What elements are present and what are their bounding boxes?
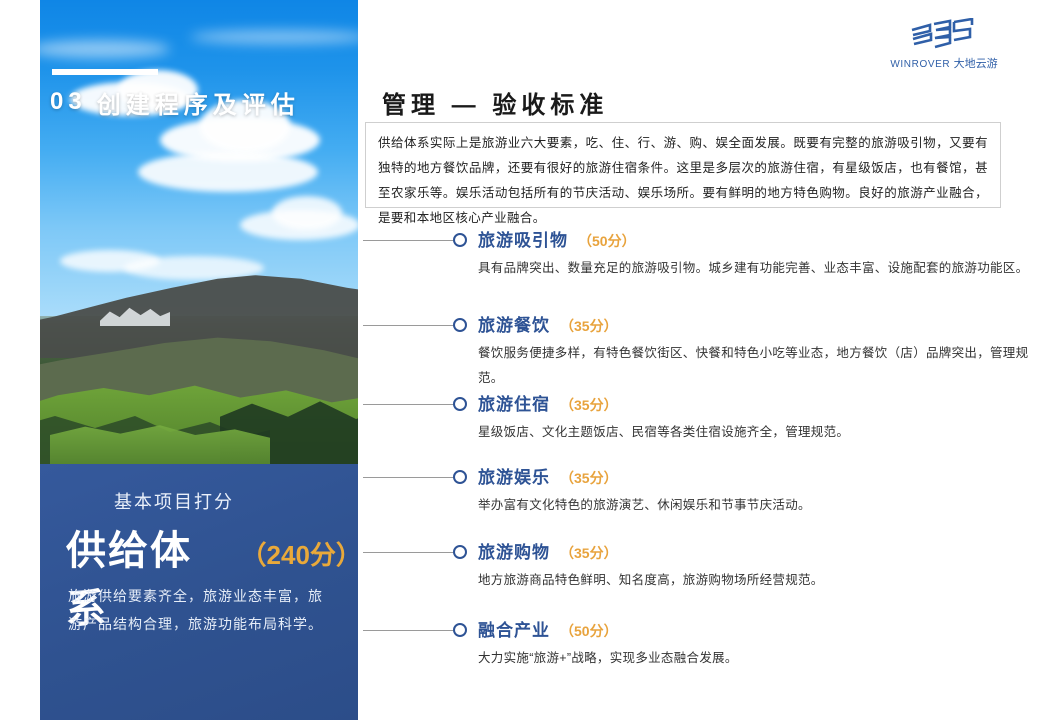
list-item-score: （35分） [560, 468, 618, 488]
list-item-header: 旅游餐饮 （35分） [478, 311, 618, 336]
list-item-title: 旅游餐饮 [478, 311, 550, 336]
list-item-body: 地方旅游商品特色鲜明、知名度高，旅游购物场所经营规范。 [478, 568, 1038, 593]
list-item-title: 旅游住宿 [478, 390, 550, 415]
list-item-body: 餐饮服务便捷多样，有特色餐饮街区、快餐和特色小吃等业态，地方餐饮（店）品牌突出，… [478, 341, 1038, 391]
connector-line [363, 477, 455, 478]
bullet-circle-icon [453, 318, 467, 332]
list-item-header: 旅游娱乐 （35分） [478, 463, 618, 488]
page-title-on-photo: 03 创建程序及评估 [50, 82, 300, 122]
list-item-header: 旅游购物 （35分） [478, 538, 618, 563]
list-item-title: 旅游娱乐 [478, 463, 550, 488]
bullet-circle-icon [453, 470, 467, 484]
bullet-circle-icon [453, 397, 467, 411]
list-item-body: 具有品牌突出、数量充足的旅游吸引物。城乡建有功能完善、业态丰富、设施配套的旅游功… [478, 256, 1038, 281]
section-number: 03 [50, 88, 87, 116]
connector-line [363, 630, 455, 631]
list-item-score: （50分） [578, 231, 636, 251]
list-item-header: 旅游住宿 （35分） [478, 390, 618, 415]
bullet-circle-icon [453, 233, 467, 247]
connector-line [363, 552, 455, 553]
list-item-score: （50分） [560, 621, 618, 641]
list-item-body: 举办富有文化特色的旅游演艺、休闲娱乐和节事节庆活动。 [478, 493, 1038, 518]
slide-root: 03 创建程序及评估 管理 — 验收标准 WINROVER 大地云游 供给体系实… [0, 0, 1040, 720]
connector-line [363, 404, 455, 405]
list-item-score: （35分） [560, 395, 618, 415]
list-item-score: （35分） [560, 316, 618, 336]
list-item-title: 旅游购物 [478, 538, 550, 563]
list-item-body: 星级饭店、文化主题饭店、民宿等各类住宿设施齐全，管理规范。 [478, 420, 1038, 445]
list-item-body: 大力实施“旅游+”战略，实现多业态融合发展。 [478, 646, 1038, 671]
list-item-title: 融合产业 [478, 616, 550, 641]
list-item-title: 旅游吸引物 [478, 226, 568, 251]
section-title: 创建程序及评估 [97, 85, 300, 120]
bullet-circle-icon [453, 623, 467, 637]
connector-line [363, 325, 455, 326]
list-item-header: 旅游吸引物 （50分） [478, 226, 636, 251]
connector-line [363, 240, 455, 241]
bullet-circle-icon [453, 545, 467, 559]
list-item-header: 融合产业 （50分） [478, 616, 618, 641]
list-item-score: （35分） [560, 543, 618, 563]
page-title-tail: 管理 — 验收标准 [382, 82, 608, 122]
